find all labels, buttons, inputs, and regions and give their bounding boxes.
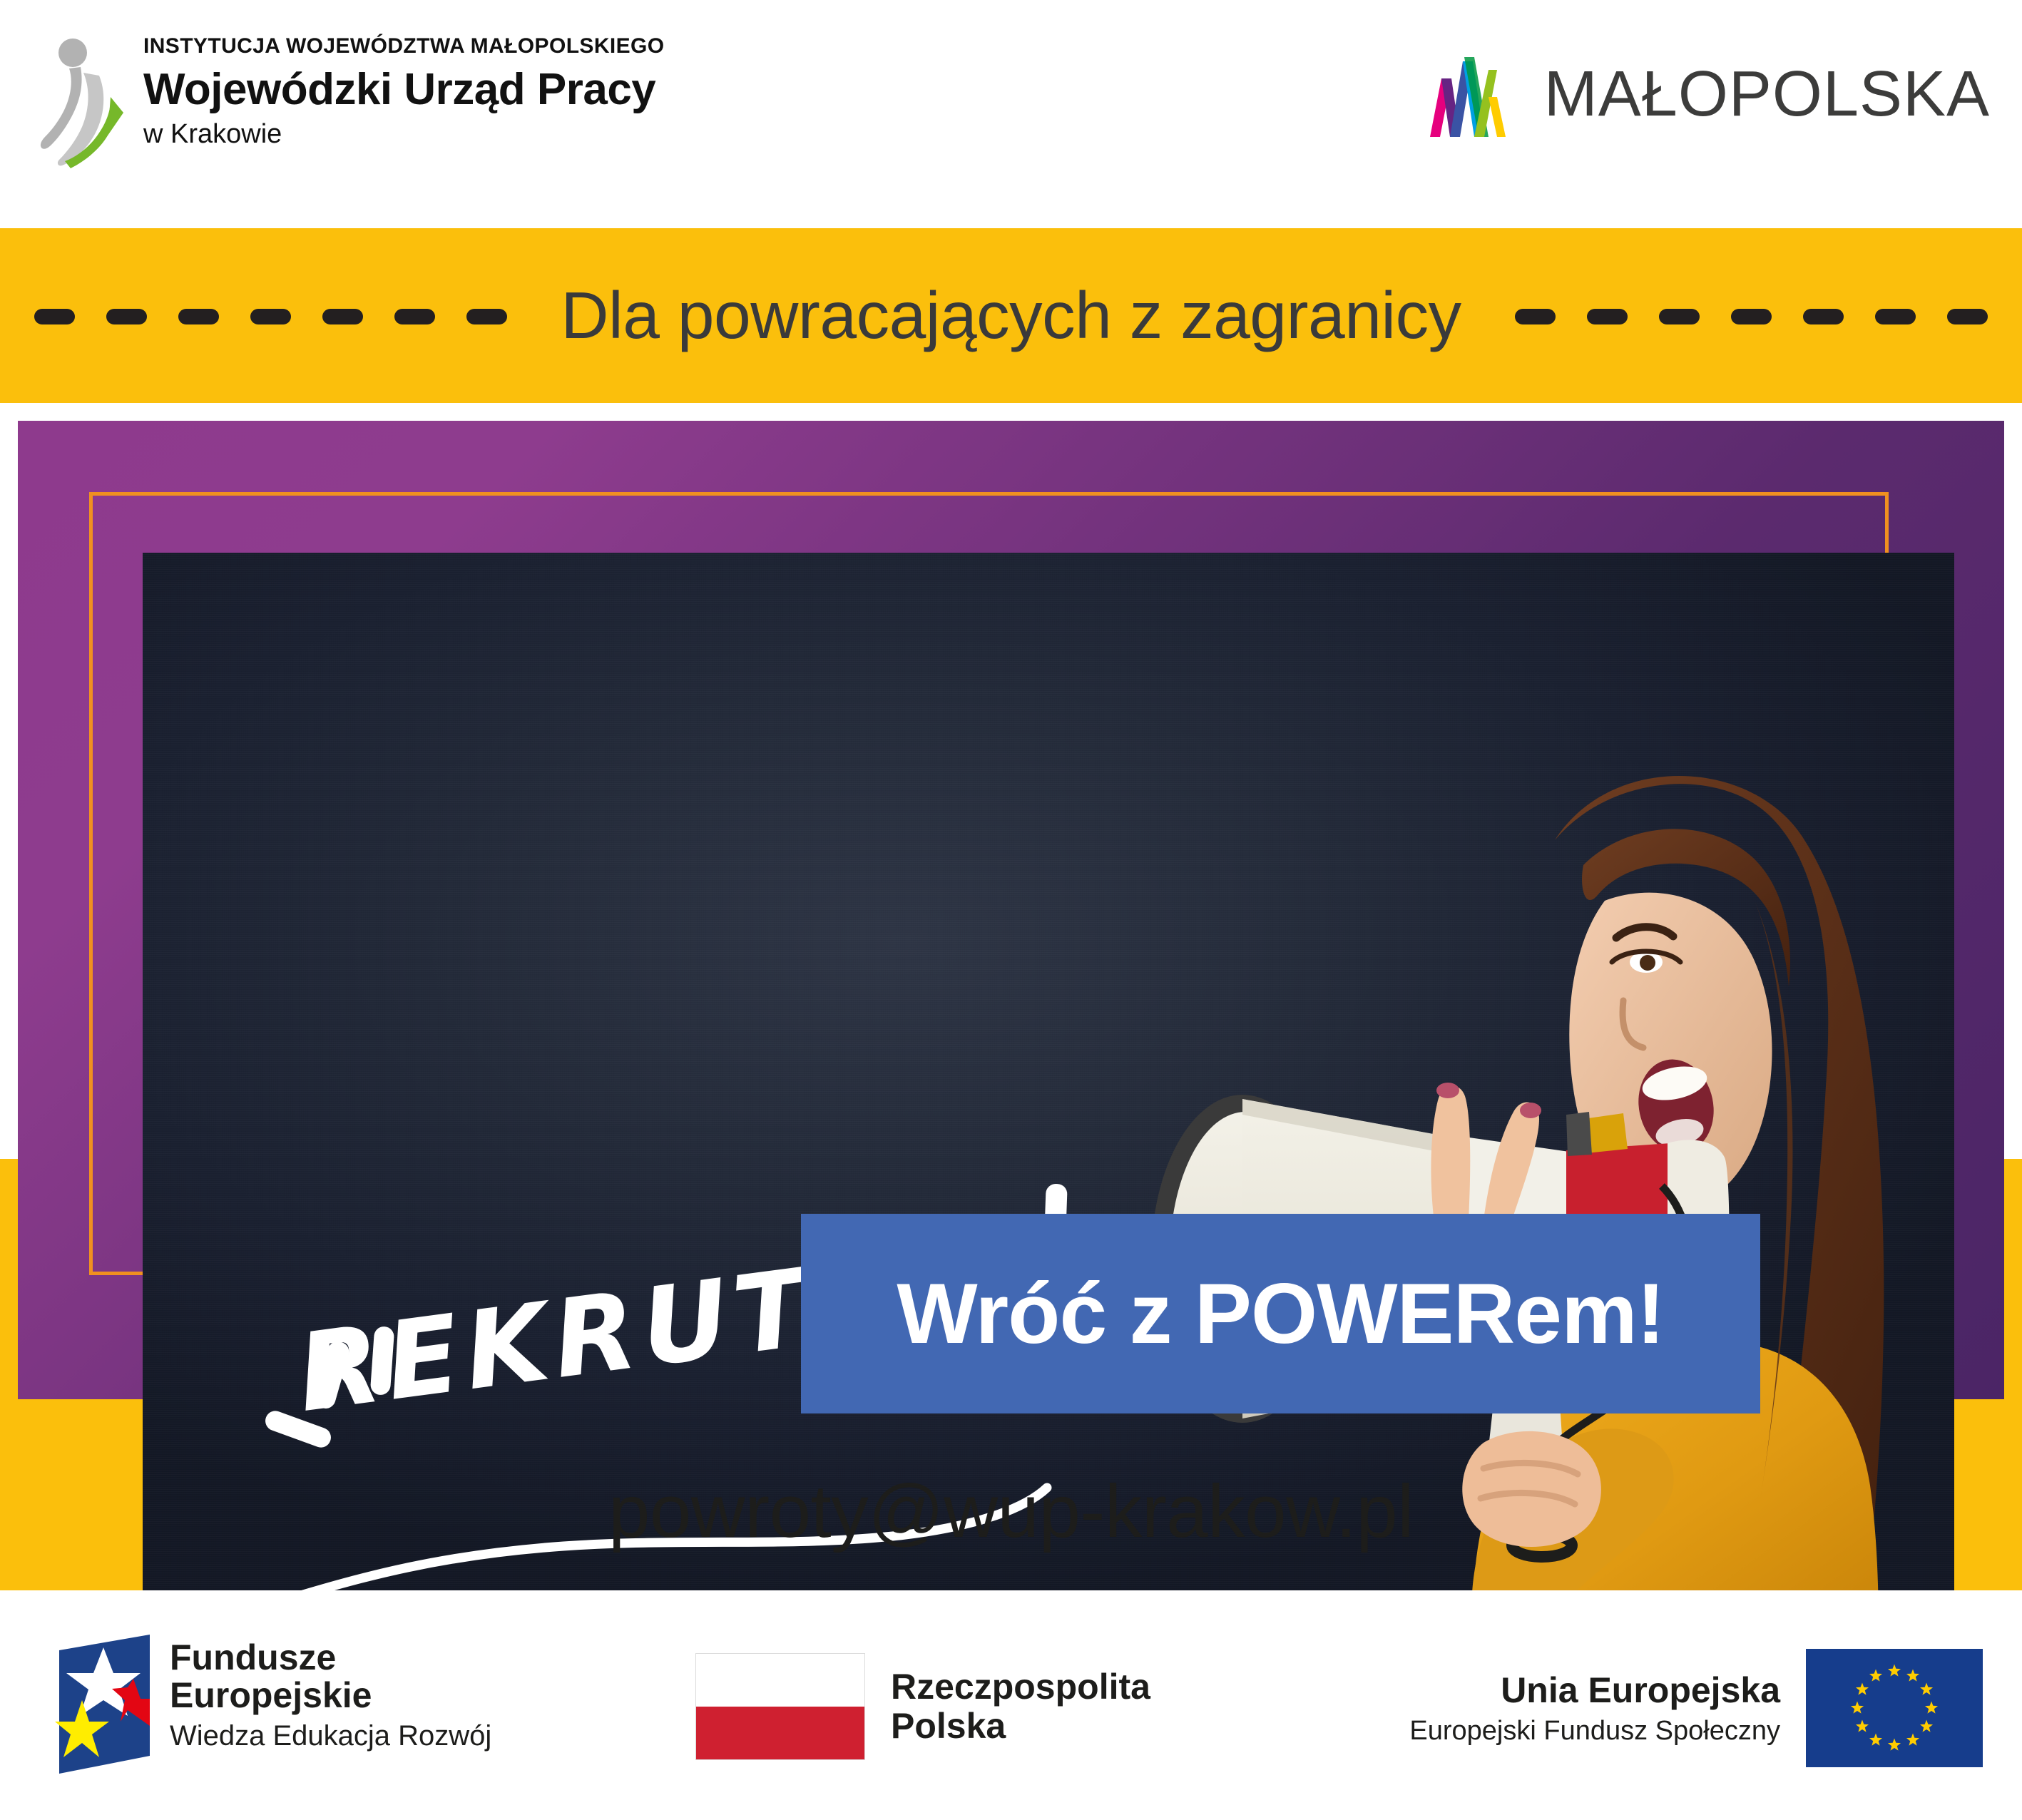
unia-europejska-logo: Unia Europejska Europejski Fundusz Społe… bbox=[1409, 1649, 1983, 1767]
wup-figure-icon bbox=[39, 36, 123, 178]
contact-email[interactable]: powroty@wup-krakow.pl bbox=[0, 1469, 2022, 1555]
top-yellow-band: Dla powracających z zagranicy bbox=[0, 228, 2022, 403]
dash-decoration-left bbox=[34, 309, 507, 324]
flag-stripe-red bbox=[696, 1707, 864, 1759]
malopolska-logo: MAŁOPOLSKA bbox=[1423, 51, 1990, 137]
unia-europejska-text: Unia Europejska Europejski Fundusz Społe… bbox=[1409, 1670, 1780, 1747]
wup-krakow-logo: INSTYTUCJA WOJEWÓDZTWA MAŁOPOLSKIEGO Woj… bbox=[39, 27, 665, 178]
fe-line-2: Europejskie bbox=[170, 1677, 491, 1714]
dash-mark bbox=[1803, 309, 1844, 324]
fundusze-europejskie-text: Fundusze Europejskie Wiedza Edukacja Roz… bbox=[170, 1635, 491, 1752]
flag-stripe-white bbox=[696, 1654, 864, 1707]
dash-mark bbox=[466, 309, 507, 324]
wup-logo-text: INSTYTUCJA WOJEWÓDZTWA MAŁOPOLSKIEGO Woj… bbox=[143, 27, 665, 150]
dash-mark bbox=[178, 309, 219, 324]
poland-flag-icon bbox=[695, 1653, 865, 1760]
malopolska-wordmark: MAŁOPOLSKA bbox=[1544, 62, 1990, 126]
slogan-text: Wróć z POWERem! bbox=[897, 1264, 1664, 1363]
dash-mark bbox=[322, 309, 363, 324]
dash-mark bbox=[1659, 309, 1700, 324]
malopolska-m-icon bbox=[1423, 51, 1523, 137]
wup-institution-line: INSTYTUCJA WOJEWÓDZTWA MAŁOPOLSKIEGO bbox=[143, 34, 665, 58]
dash-mark bbox=[1947, 309, 1988, 324]
wup-office-name: Wojewódzki Urząd Pracy bbox=[143, 64, 665, 115]
rp-line-1: Rzeczpospolita bbox=[891, 1667, 1150, 1707]
eu-flag-icon bbox=[1806, 1649, 1983, 1767]
rp-line-2: Polska bbox=[891, 1707, 1150, 1746]
ue-line-1: Unia Europejska bbox=[1409, 1670, 1780, 1711]
page-footer: Fundusze Europejskie Wiedza Edukacja Roz… bbox=[0, 1590, 2022, 1820]
dash-mark bbox=[250, 309, 291, 324]
fe-line-3: Wiedza Edukacja Rozwój bbox=[170, 1720, 491, 1752]
dash-mark bbox=[1731, 309, 1772, 324]
page-header: INSTYTUCJA WOJEWÓDZTWA MAŁOPOLSKIEGO Woj… bbox=[0, 0, 2022, 228]
dash-mark bbox=[34, 309, 75, 324]
rzeczpospolita-text: Rzeczpospolita Polska bbox=[891, 1667, 1150, 1746]
slogan-box: Wróć z POWERem! bbox=[801, 1214, 1760, 1413]
rzeczpospolita-polska-logo: Rzeczpospolita Polska bbox=[695, 1653, 1150, 1760]
dash-mark bbox=[394, 309, 435, 324]
dash-mark bbox=[1515, 309, 1556, 324]
ue-line-2: Europejski Fundusz Społeczny bbox=[1409, 1716, 1780, 1747]
wup-city: w Krakowie bbox=[143, 119, 665, 150]
fundusze-europejskie-logo: Fundusze Europejskie Wiedza Edukacja Roz… bbox=[53, 1635, 491, 1774]
banner-tagline: Dla powracających z zagranicy bbox=[561, 277, 1461, 354]
dash-mark bbox=[1587, 309, 1628, 324]
fe-line-1: Fundusze bbox=[170, 1639, 491, 1677]
dash-decoration-right bbox=[1515, 309, 1988, 324]
fundusze-europejskie-icon bbox=[53, 1635, 150, 1774]
dash-mark bbox=[106, 309, 147, 324]
dash-mark bbox=[1875, 309, 1916, 324]
